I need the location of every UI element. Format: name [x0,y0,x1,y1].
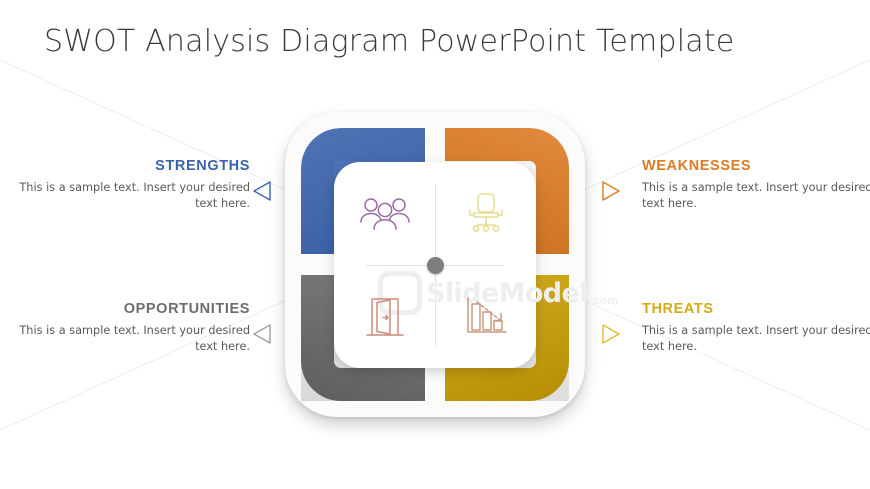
icon-cell-weaknesses[interactable] [435,162,536,265]
diagram-inner-card: SlideModel .com [334,162,536,368]
office-chair-icon [463,191,509,237]
weaknesses-heading: WEAKNESSES [642,157,870,175]
quadrant-text-weaknesses: WEAKNESSES This is a sample text. Insert… [642,157,870,211]
quadrant-text-strengths: STRENGTHS This is a sample text. Insert … [0,157,250,211]
opportunities-marker-triangle-left[interactable] [252,323,272,345]
quadrant-text-threats: THREATS This is a sample text. Insert yo… [642,300,870,354]
open-door-icon [364,295,406,339]
declining-bar-chart-icon [464,296,508,338]
threats-heading: THREATS [642,300,870,318]
page-title: SWOT Analysis Diagram PowerPoint Templat… [44,24,734,59]
weaknesses-marker-triangle-right[interactable] [601,180,621,202]
swot-slide: SWOT Analysis Diagram PowerPoint Templat… [0,0,870,489]
icon-cell-strengths[interactable] [334,162,435,265]
opportunities-heading: OPPORTUNITIES [0,300,250,318]
icon-cell-opportunities[interactable] [334,265,435,368]
people-group-icon [359,194,411,234]
center-dot [427,257,444,274]
strengths-marker-triangle-left[interactable] [252,180,272,202]
weaknesses-body: This is a sample text. Insert your desir… [642,180,870,211]
icon-cell-threats[interactable] [435,265,536,368]
opportunities-body: This is a sample text. Insert your desir… [0,323,250,354]
threats-body: This is a sample text. Insert your desir… [642,323,870,354]
watermark-suffix: .com [589,294,619,307]
strengths-body: This is a sample text. Insert your desir… [0,180,250,211]
swot-diagram: SlideModel .com [285,112,585,417]
threats-marker-triangle-right[interactable] [601,323,621,345]
quadrant-text-opportunities: OPPORTUNITIES This is a sample text. Ins… [0,300,250,354]
strengths-heading: STRENGTHS [0,157,250,175]
